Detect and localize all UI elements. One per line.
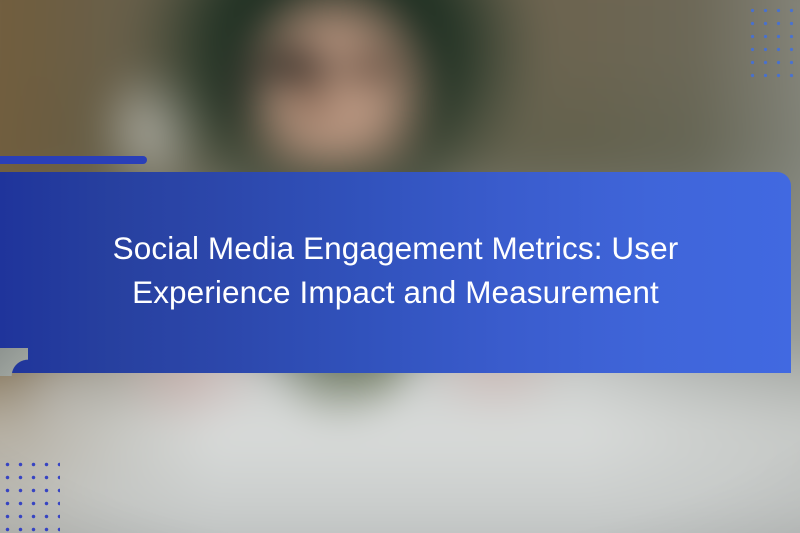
title-card: Social Media Engagement Metrics: User Ex… bbox=[0, 0, 800, 533]
accent-bar bbox=[0, 156, 147, 164]
title-banner: Social Media Engagement Metrics: User Ex… bbox=[0, 172, 791, 373]
banner-corner-notch bbox=[0, 348, 28, 376]
page-title: Social Media Engagement Metrics: User Ex… bbox=[66, 226, 726, 320]
banner-corner-notch-fill bbox=[0, 348, 28, 376]
